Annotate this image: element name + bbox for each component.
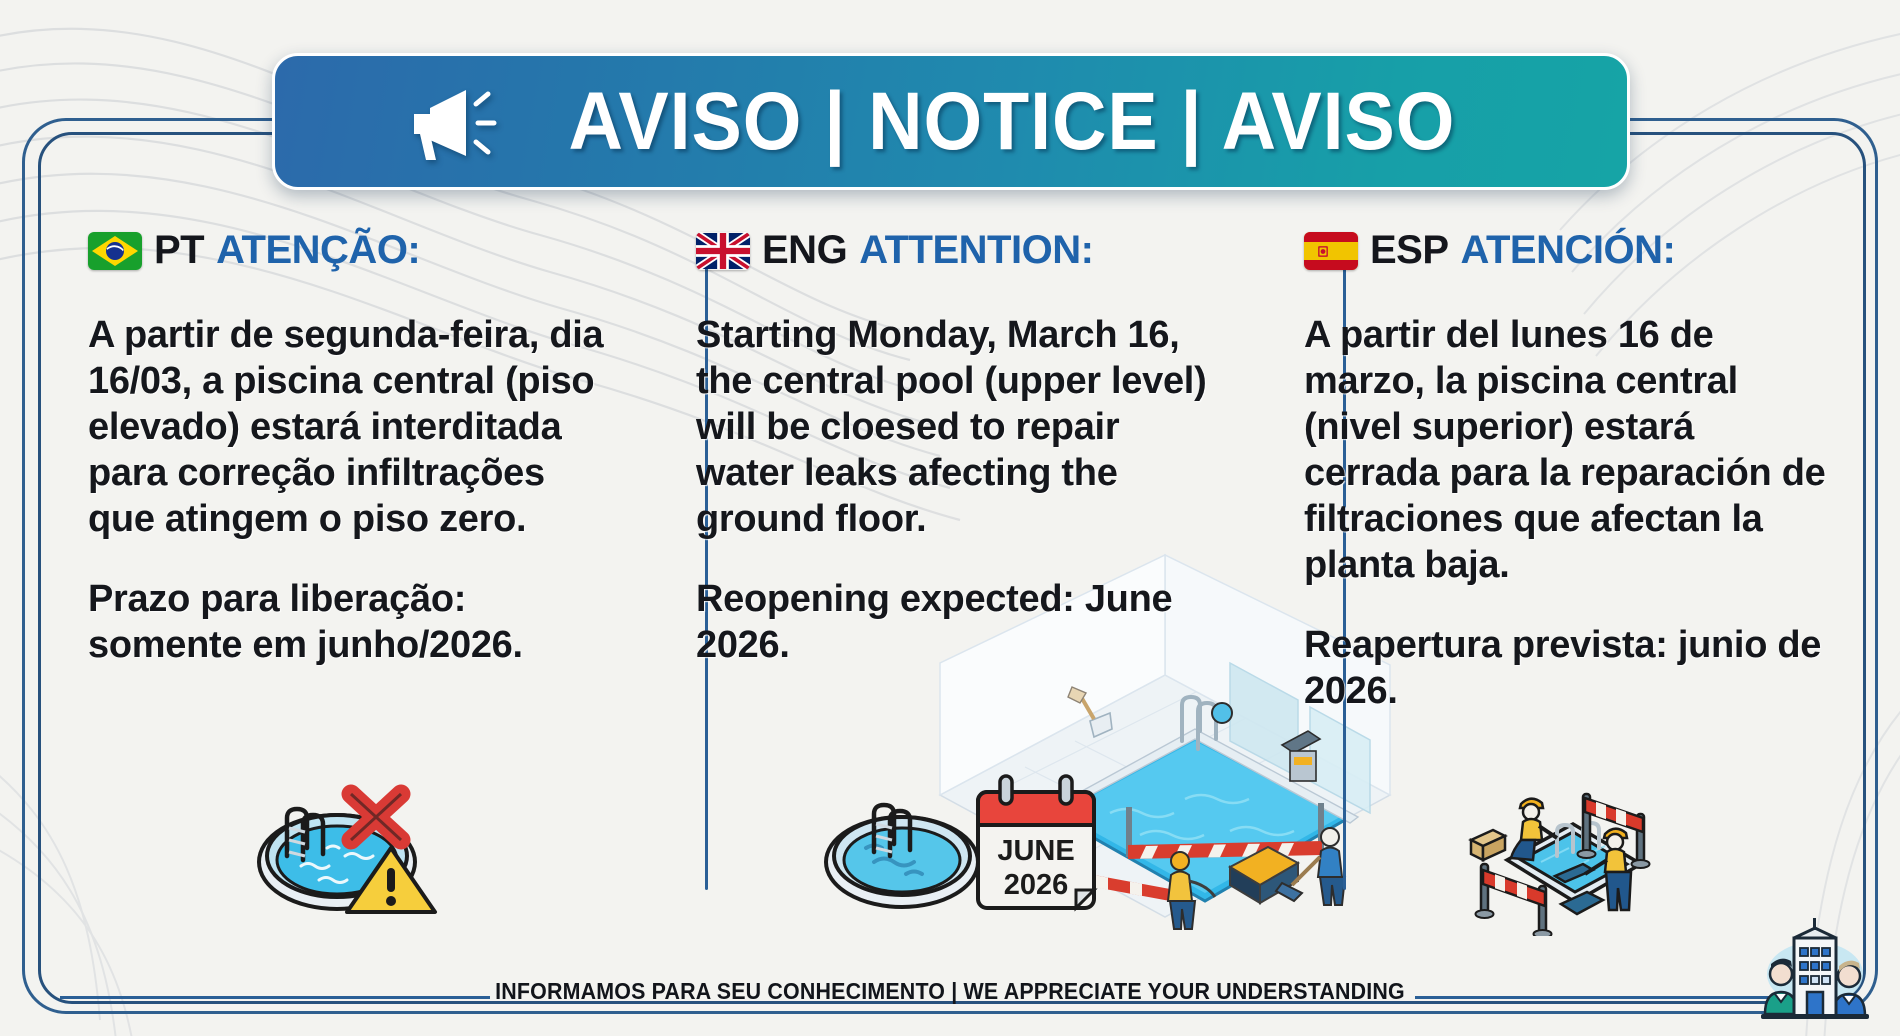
column-pt-paragraph-1: A partir de segunda-feira, dia 16/03, a … [88,313,614,543]
column-pt-lang-code: PT [154,228,204,273]
column-pt-attention-label: ATENÇÃO: [216,228,420,273]
column-eng-header: ENG ATTENTION: [696,228,1222,273]
column-esp-paragraph-1: A partir del lunes 16 de marzo, la pisci… [1304,313,1830,589]
brazil-flag-icon [88,232,142,270]
column-esp-attention-label: ATENCIÓN: [1461,228,1676,273]
column-eng-paragraph-1: Starting Monday, March 16, the central p… [696,313,1222,543]
column-esp-paragraph-2: Reapertura prevista: junio de 2026. [1304,623,1830,715]
uk-flag-icon [696,232,750,270]
condominium-building-icon [1753,918,1878,1028]
column-eng-lang-code: ENG [762,228,847,273]
column-esp: ESP ATENCIÓN: A partir del lunes 16 de m… [1252,228,1860,928]
column-esp-header: ESP ATENCIÓN: [1304,228,1830,273]
footer-text: INFORMAMOS PARA SEU CONHECIMENTO | WE AP… [67,978,1834,1005]
column-pt-paragraph-2: Prazo para liberação: somente em junho/2… [88,577,614,669]
column-pt: PT ATENÇÃO: A partir de segunda-feira, d… [60,228,644,928]
column-esp-lang-code: ESP [1370,228,1449,273]
megaphone-icon [408,82,504,162]
notice-banner: AVISO | NOTICE | AVISO [272,53,1630,190]
column-eng: ENG ATTENTION: Starting Monday, March 16… [644,228,1252,928]
column-pt-header: PT ATENÇÃO: [88,228,614,273]
column-eng-attention-label: ATTENTION: [859,228,1093,273]
banner-title: AVISO | NOTICE | AVISO [569,75,1456,169]
column-eng-paragraph-2: Reopening expected: June 2026. [696,577,1222,669]
language-columns: PT ATENÇÃO: A partir de segunda-feira, d… [60,228,1860,928]
spain-flag-icon [1304,232,1358,270]
